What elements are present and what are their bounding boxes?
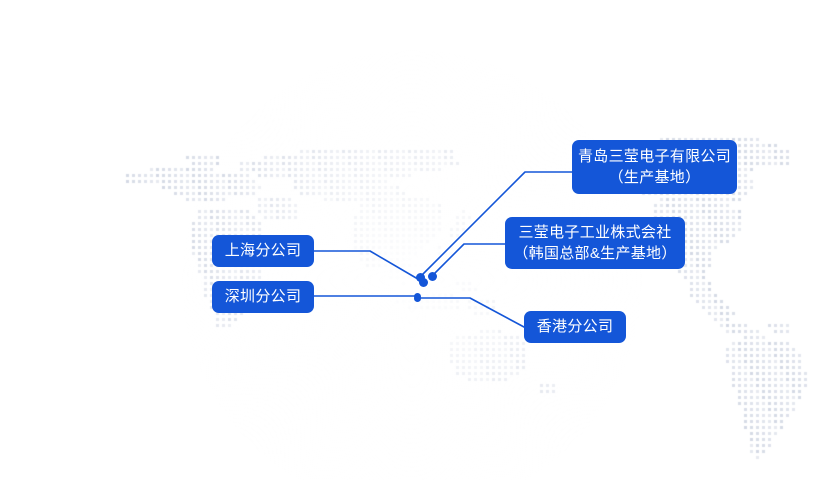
location-label-line: （韩国总部&生产基地）	[513, 243, 676, 264]
location-label-line: 深圳分公司	[225, 286, 302, 307]
location-label-line: （生产基地）	[609, 167, 701, 188]
location-label-line: 香港分公司	[537, 316, 614, 337]
location-label-qingdao[interactable]: 青岛三莹电子有限公司（生产基地）	[572, 140, 737, 194]
location-label-line: 三莹电子工业株式会社	[519, 222, 672, 243]
location-label-korea-hq[interactable]: 三莹电子工业株式会社（韩国总部&生产基地）	[505, 217, 685, 269]
location-label-hongkong[interactable]: 香港分公司	[524, 311, 626, 343]
world-map-diagram: 青岛三莹电子有限公司（生产基地）三莹电子工业株式会社（韩国总部&生产基地）上海分…	[0, 0, 824, 480]
location-labels: 青岛三莹电子有限公司（生产基地）三莹电子工业株式会社（韩国总部&生产基地）上海分…	[0, 0, 824, 480]
location-label-shenzhen[interactable]: 深圳分公司	[212, 281, 314, 313]
location-label-shanghai[interactable]: 上海分公司	[212, 235, 314, 267]
location-label-line: 青岛三莹电子有限公司	[578, 146, 731, 167]
location-label-line: 上海分公司	[225, 240, 302, 261]
